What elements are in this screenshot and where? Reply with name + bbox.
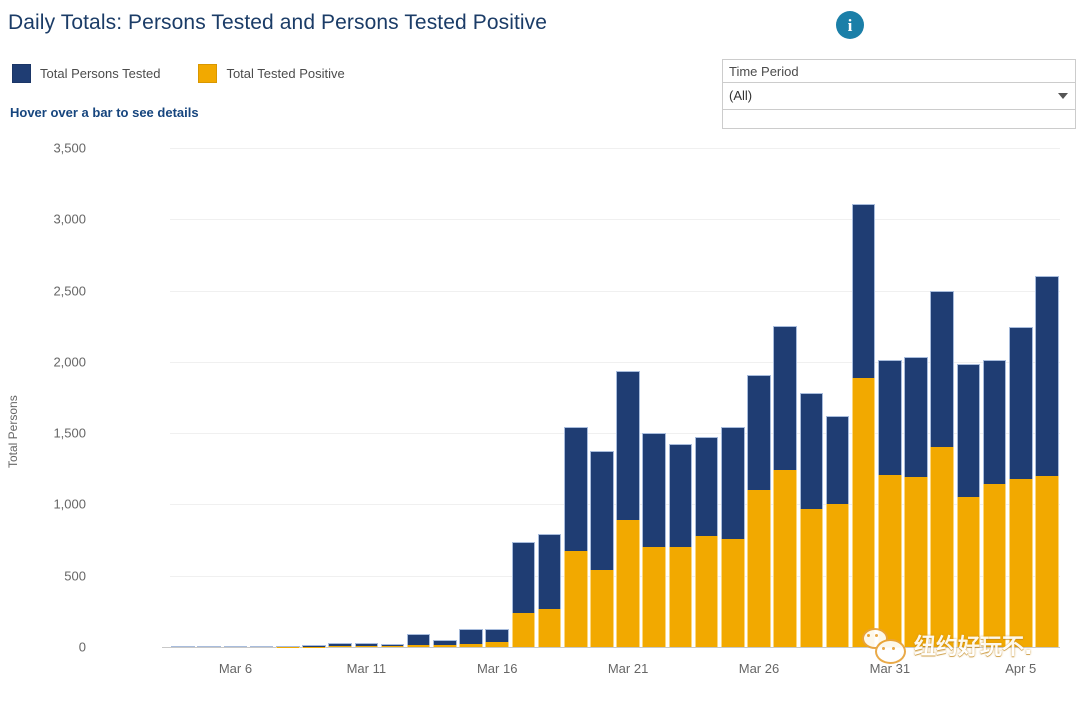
- bar-segment-positive: [773, 470, 797, 648]
- bar-mar-22[interactable]: [642, 433, 666, 647]
- y-axis-tick: 3,500: [10, 141, 86, 156]
- bar-mar-18[interactable]: [538, 534, 562, 647]
- time-period-value: (All): [729, 88, 752, 103]
- bar-segment-positive: [878, 475, 902, 647]
- bar-segment-positive: [721, 539, 745, 647]
- x-axis-line: [162, 647, 1060, 648]
- bar-mar-31[interactable]: [878, 360, 902, 647]
- page-title: Daily Totals: Persons Tested and Persons…: [8, 11, 547, 35]
- bar-segment-tested: [302, 645, 326, 647]
- bar-chart: Total Persons 05001,0001,5002,0002,5003,…: [0, 135, 1080, 702]
- bar-segment-tested: [1035, 276, 1059, 476]
- bar-segment-positive: [355, 646, 379, 647]
- bar-mar-12[interactable]: [381, 644, 405, 647]
- bar-segment-tested: [381, 644, 405, 646]
- bar-segment-tested: [590, 451, 614, 570]
- y-axis-tick: 1,500: [10, 426, 86, 441]
- bar-segment-tested: [224, 646, 248, 647]
- bar-segment-positive: [407, 645, 431, 647]
- bar-segment-tested: [433, 640, 457, 645]
- bar-mar-25[interactable]: [721, 427, 745, 647]
- chevron-down-icon[interactable]: [1058, 93, 1068, 99]
- bar-segment-tested: [1009, 327, 1033, 480]
- info-glyph: i: [848, 17, 853, 34]
- bar-segment-tested: [878, 360, 902, 475]
- gridline: [170, 219, 1060, 220]
- bar-segment-positive: [695, 536, 719, 647]
- bar-segment-positive: [983, 484, 1007, 647]
- bar-apr-3[interactable]: [957, 364, 981, 647]
- legend-swatch-tested: [12, 64, 31, 83]
- y-axis-tick: 2,500: [10, 283, 86, 298]
- y-axis-ticks: 05001,0001,5002,0002,5003,0003,500: [0, 135, 86, 702]
- bar-mar-14[interactable]: [433, 640, 457, 647]
- bar-mar-10[interactable]: [328, 643, 352, 647]
- bar-segment-positive: [485, 642, 509, 647]
- time-period-filter-label: Time Period: [723, 60, 1075, 83]
- bar-segment-positive: [616, 520, 640, 647]
- bar-segment-tested: [930, 291, 954, 448]
- bar-segment-tested: [512, 542, 536, 613]
- bar-mar-13[interactable]: [407, 634, 431, 647]
- legend-item-total-persons-tested[interactable]: Total Persons Tested: [12, 64, 160, 83]
- x-axis-tick: Mar 31: [870, 661, 910, 676]
- bar-mar-29[interactable]: [826, 416, 850, 647]
- bar-mar-21[interactable]: [616, 371, 640, 647]
- bar-segment-tested: [642, 433, 666, 546]
- bar-segment-tested: [171, 646, 195, 647]
- bar-segment-tested: [250, 646, 274, 647]
- x-axis-tick: Mar 11: [347, 661, 387, 676]
- legend-item-total-tested-positive[interactable]: Total Tested Positive: [198, 64, 344, 83]
- bar-mar-19[interactable]: [564, 427, 588, 647]
- bar-segment-tested: [538, 534, 562, 609]
- bar-mar-15[interactable]: [459, 629, 483, 647]
- bar-segment-tested: [485, 629, 509, 643]
- bar-mar-11[interactable]: [355, 643, 379, 647]
- x-axis-tick: Mar 26: [739, 661, 779, 676]
- bar-apr-2[interactable]: [930, 291, 954, 647]
- bar-segment-positive: [328, 646, 352, 647]
- bar-segment-positive: [747, 490, 771, 647]
- bar-segment-tested: [276, 646, 300, 647]
- bar-segment-positive: [826, 504, 850, 647]
- x-axis-tick: Mar 21: [608, 661, 648, 676]
- bar-mar-30[interactable]: [852, 204, 876, 647]
- bar-segment-positive: [459, 644, 483, 647]
- bar-mar-20[interactable]: [590, 451, 614, 647]
- bar-mar-7[interactable]: [250, 646, 274, 647]
- bar-mar-6[interactable]: [224, 646, 248, 647]
- bar-segment-tested: [407, 634, 431, 645]
- bar-segment-tested: [669, 444, 693, 547]
- x-axis-tick: Mar 16: [477, 661, 517, 676]
- bar-segment-tested: [355, 643, 379, 646]
- bar-segment-positive: [930, 447, 954, 647]
- bar-segment-tested: [747, 375, 771, 490]
- bar-mar-26[interactable]: [747, 375, 771, 647]
- legend-label-tested: Total Persons Tested: [40, 66, 160, 81]
- bar-segment-tested: [800, 393, 824, 510]
- bar-segment-positive: [957, 497, 981, 647]
- hover-hint-text: Hover over a bar to see details: [10, 105, 199, 120]
- bar-segment-tested: [695, 437, 719, 535]
- bar-segment-tested: [957, 364, 981, 497]
- x-axis-tick: Apr 5: [1005, 661, 1036, 676]
- y-axis-tick: 3,000: [10, 212, 86, 227]
- bar-apr-4[interactable]: [983, 360, 1007, 647]
- bar-segment-tested: [826, 416, 850, 504]
- bar-segment-positive: [669, 547, 693, 647]
- bar-apr-1[interactable]: [904, 357, 928, 647]
- bar-mar-8[interactable]: [276, 646, 300, 647]
- chart-legend: Total Persons Tested Total Tested Positi…: [12, 64, 383, 83]
- bar-segment-tested: [773, 326, 797, 469]
- bar-mar-16[interactable]: [485, 629, 509, 647]
- bar-mar-24[interactable]: [695, 437, 719, 647]
- bar-segment-positive: [590, 570, 614, 647]
- bar-segment-tested: [459, 629, 483, 644]
- bar-segment-positive: [538, 609, 562, 647]
- bar-segment-tested: [564, 427, 588, 551]
- bar-segment-tested: [983, 360, 1007, 484]
- bar-segment-tested: [852, 204, 876, 378]
- bar-mar-17[interactable]: [512, 542, 536, 647]
- bar-segment-positive: [1009, 479, 1033, 647]
- bar-segment-positive: [800, 509, 824, 647]
- gridline: [170, 291, 1060, 292]
- bar-segment-positive: [381, 646, 405, 647]
- bar-mar-28[interactable]: [800, 393, 824, 647]
- bar-segment-positive: [564, 551, 588, 647]
- bar-segment-tested: [904, 357, 928, 477]
- bar-mar-27[interactable]: [773, 326, 797, 647]
- bar-segment-tested: [616, 371, 640, 520]
- info-icon[interactable]: i: [836, 11, 864, 39]
- bar-segment-tested: [721, 427, 745, 539]
- time-period-filter-footer: [723, 110, 1075, 128]
- time-period-filter: Time Period (All): [722, 59, 1076, 129]
- x-axis-tick: Mar 6: [219, 661, 252, 676]
- gridline: [170, 148, 1060, 149]
- time-period-dropdown[interactable]: (All): [723, 83, 1075, 110]
- y-axis-tick: 2,000: [10, 354, 86, 369]
- plot-area: Mar 6Mar 11Mar 16Mar 21Mar 26Mar 31Apr 5: [170, 135, 1060, 702]
- legend-label-positive: Total Tested Positive: [226, 66, 344, 81]
- bar-apr-5[interactable]: [1009, 327, 1033, 647]
- bar-segment-positive: [852, 378, 876, 647]
- bar-segment-positive: [642, 547, 666, 648]
- bar-segment-positive: [512, 613, 536, 647]
- bar-apr-6[interactable]: [1035, 276, 1059, 647]
- y-axis-tick: 0: [10, 640, 86, 655]
- y-axis-tick: 1,000: [10, 497, 86, 512]
- bar-segment-positive: [1035, 476, 1059, 647]
- bar-mar-23[interactable]: [669, 444, 693, 647]
- bar-mar-9[interactable]: [302, 645, 326, 647]
- bar-segment-tested: [197, 646, 221, 647]
- bar-segment-positive: [433, 645, 457, 647]
- bar-segment-tested: [328, 643, 352, 647]
- y-axis-tick: 500: [10, 568, 86, 583]
- legend-swatch-positive: [198, 64, 217, 83]
- bar-segment-positive: [904, 477, 928, 647]
